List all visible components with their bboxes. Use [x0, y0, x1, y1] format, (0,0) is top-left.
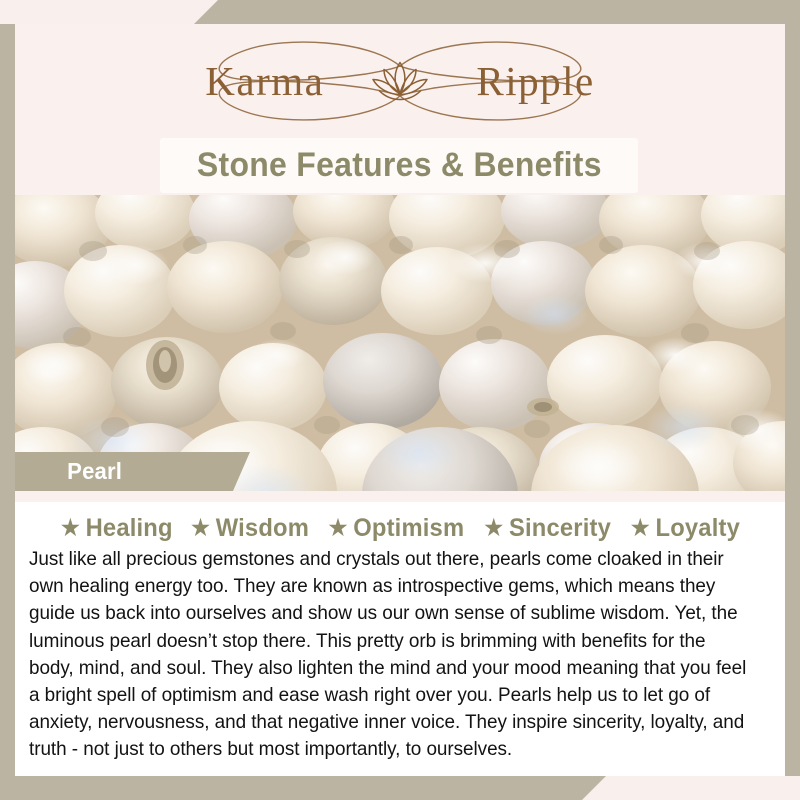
star-icon: ★ — [630, 517, 649, 539]
star-icon: ★ — [329, 517, 348, 539]
benefit-item-healing: ★ Healing — [61, 514, 173, 543]
benefit-item-optimism: ★ Optimism — [329, 514, 465, 543]
content-panel: ★ Healing ★ Wisdom ★ Optimism ★ Sincerit… — [15, 502, 785, 776]
lotus-flower-icon — [369, 57, 431, 106]
brand-logo: Karma Ripple — [15, 38, 785, 124]
star-icon: ★ — [485, 517, 504, 539]
top-accent-band — [0, 0, 800, 24]
star-icon: ★ — [61, 517, 80, 539]
benefit-label: Optimism — [354, 514, 465, 543]
benefit-label: Loyalty — [655, 514, 739, 543]
pearls-photo — [15, 195, 785, 491]
benefit-label: Healing — [85, 514, 172, 543]
left-accent-strip — [0, 24, 15, 776]
bottom-accent-band — [0, 776, 800, 800]
pearls-photo-graphic — [15, 195, 785, 491]
benefit-label: Sincerity — [509, 514, 611, 543]
stone-description: Just like all precious gemstones and cry… — [29, 546, 752, 764]
brand-header: Karma Ripple — [15, 24, 785, 138]
page-title: Stone Features & Benefits — [197, 146, 602, 185]
photo-text-separator — [15, 491, 785, 502]
benefits-list: ★ Healing ★ Wisdom ★ Optimism ★ Sincerit… — [29, 512, 771, 544]
section-title-box: Stone Features & Benefits — [160, 138, 638, 193]
benefit-item-wisdom: ★ Wisdom — [191, 514, 309, 543]
benefit-item-sincerity: ★ Sincerity — [485, 514, 612, 543]
pearl-info-card: Karma Ripple — [0, 0, 800, 800]
brand-name-second: Ripple — [476, 61, 594, 102]
brand-name-first: Karma — [205, 61, 324, 102]
benefit-label: Wisdom — [216, 514, 309, 543]
star-icon: ★ — [191, 517, 210, 539]
stone-name: Pearl — [67, 458, 122, 485]
stone-name-banner: Pearl — [15, 452, 250, 491]
right-accent-strip — [785, 24, 800, 776]
benefit-item-loyalty: ★ Loyalty — [630, 514, 739, 543]
